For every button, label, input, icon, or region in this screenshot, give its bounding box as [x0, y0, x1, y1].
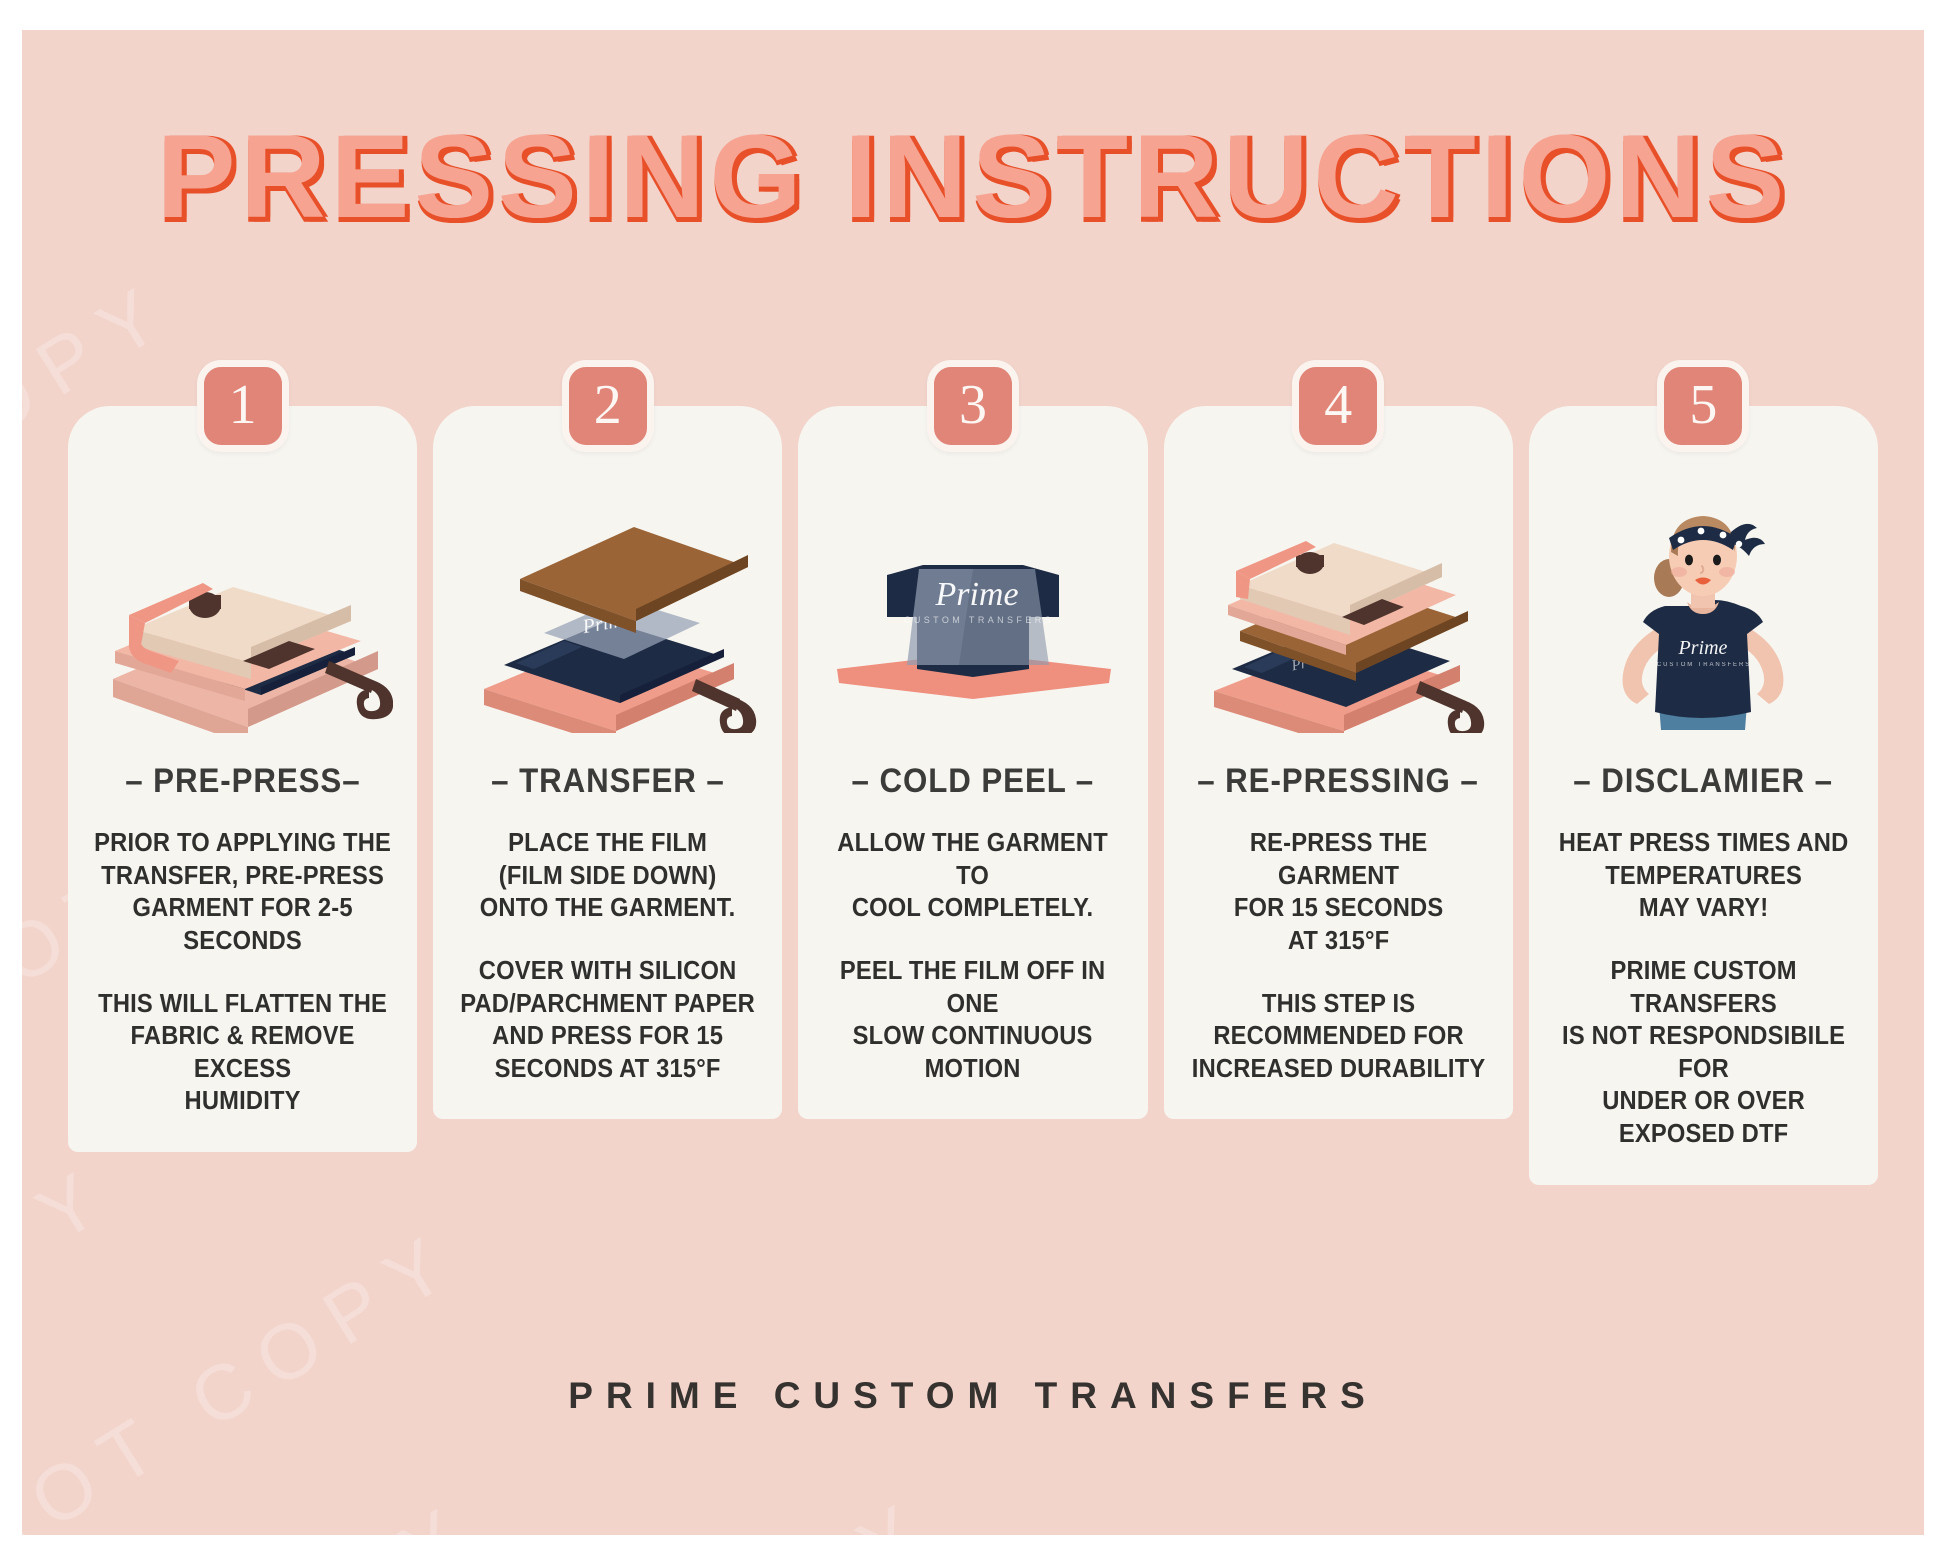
shirt-with-film-icon: Prime CUSTOM TRANSFERS — [812, 458, 1133, 758]
title-block: PRESSING INSTRUCTIONS — [22, 118, 1924, 236]
step-number: 5 — [1689, 377, 1717, 433]
step-paragraph: PRIOR TO APPLYING THETRANSFER, PRE-PRESS… — [93, 827, 392, 958]
step-paragraph: PEEL THE FILM OFF IN ONESLOW CONTINUOUSM… — [824, 955, 1123, 1086]
step-paragraph: ALLOW THE GARMENT TOCOOL COMPLETELY. — [824, 827, 1123, 925]
step-panel-3: 3 Prime CU — [798, 360, 1147, 1185]
step-paragraph: PRIME CUSTOM TRANSFERSIS NOT RESPONDSIBI… — [1554, 955, 1853, 1151]
poster-frame: DO NOT COPY DO NOT COPY DO NOT COPY DO N… — [0, 0, 1946, 1557]
page-title: PRESSING INSTRUCTIONS — [157, 118, 1790, 236]
step-panel-2: 2 — [433, 360, 782, 1185]
step-number: 1 — [229, 377, 257, 433]
shirt-brand-sub: CUSTOM TRANSFERS — [904, 615, 1054, 625]
svg-text:Prime: Prime — [1678, 637, 1728, 659]
footer: PRIME CUSTOM TRANSFERS — [22, 1375, 1924, 1417]
step-heading: – TRANSFER – — [491, 762, 725, 801]
step-card-3: Prime CUSTOM TRANSFERS – COLD PEEL – ALL… — [798, 406, 1147, 1119]
step-heading: – COLD PEEL – — [852, 762, 1095, 801]
step-badge-3: 3 — [927, 360, 1019, 452]
step-badge-1: 1 — [197, 360, 289, 452]
step-paragraph: PLACE THE FILM(FILM SIDE DOWN)ONTO THE G… — [458, 827, 757, 925]
steps-row: 1 — [68, 360, 1878, 1185]
step-heading: – DISCLAMIER – — [1574, 762, 1834, 801]
step-paragraph: THIS STEP ISRECOMMENDED FORINCREASED DUR… — [1189, 988, 1488, 1086]
step-paragraph: THIS WILL FLATTEN THEFABRIC & REMOVE EXC… — [93, 988, 392, 1119]
step-paragraph: COVER WITH SILICONPAD/PARCHMENT PAPERAND… — [458, 955, 757, 1086]
step-panel-4: 4 Pr — [1164, 360, 1513, 1185]
heat-press-repress-icon: Pr — [1178, 458, 1499, 758]
step-card-1: – PRE-PRESS– PRIOR TO APPLYING THETRANSF… — [68, 406, 417, 1152]
shirt-brand-script: Prime — [934, 576, 1018, 613]
step-card-2: Prime – TRANSFER – PLACE THE FILM(FILM — [433, 406, 782, 1119]
woman-wearing-shirt-icon: Prime CUSTOM TRANSFERS — [1543, 458, 1864, 758]
heat-press-closed-icon — [82, 458, 403, 758]
step-body-4: RE-PRESS THE GARMENTFOR 15 SECONDSAT 315… — [1178, 827, 1499, 1085]
step-badge-5: 5 — [1657, 360, 1749, 452]
step-body-3: ALLOW THE GARMENT TOCOOL COMPLETELY. PEE… — [812, 827, 1133, 1085]
heat-press-layers-parchment-icon: Prime — [447, 458, 768, 758]
step-number: 3 — [959, 377, 987, 433]
step-badge-2: 2 — [562, 360, 654, 452]
poster-canvas: DO NOT COPY DO NOT COPY DO NOT COPY DO N… — [22, 30, 1924, 1535]
step-panel-5: 5 — [1529, 360, 1878, 1185]
step-number: 2 — [594, 377, 622, 433]
step-heading: – RE-PRESSING – — [1197, 762, 1479, 801]
step-number: 4 — [1324, 377, 1352, 433]
step-panel-1: 1 — [68, 360, 417, 1185]
brand-name: PRIME CUSTOM TRANSFERS — [22, 1375, 1924, 1417]
step-body-1: PRIOR TO APPLYING THETRANSFER, PRE-PRESS… — [82, 827, 403, 1118]
step-card-5: Prime CUSTOM TRANSFERS — [1529, 406, 1878, 1185]
step-badge-4: 4 — [1292, 360, 1384, 452]
step-body-2: PLACE THE FILM(FILM SIDE DOWN)ONTO THE G… — [447, 827, 768, 1085]
step-paragraph: RE-PRESS THE GARMENTFOR 15 SECONDSAT 315… — [1189, 827, 1488, 958]
svg-text:CUSTOM TRANSFERS: CUSTOM TRANSFERS — [1657, 662, 1751, 668]
step-body-5: HEAT PRESS TIMES ANDTEMPERATURESMAY VARY… — [1543, 827, 1864, 1151]
step-card-4: Pr — [1164, 406, 1513, 1119]
step-heading: – PRE-PRESS– — [125, 762, 360, 801]
step-paragraph: HEAT PRESS TIMES ANDTEMPERATURESMAY VARY… — [1554, 827, 1853, 925]
